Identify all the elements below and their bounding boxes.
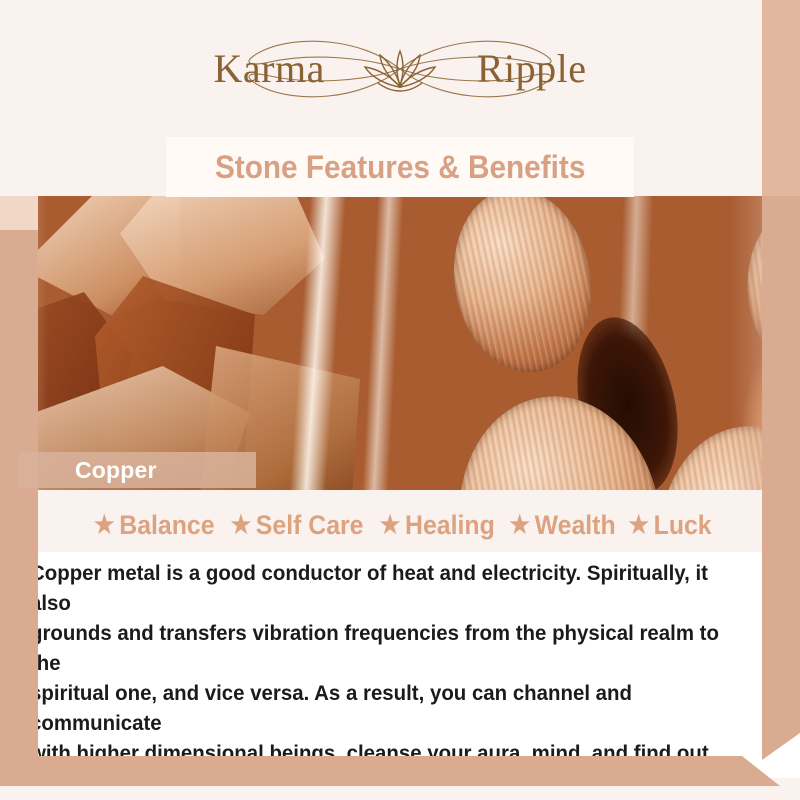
benefit-item-wealth: ★ Wealth [505,510,616,541]
frame-band-bottom [0,756,800,786]
brand-logo-wrap: Karma Ripple [200,29,600,109]
benefit-item-luck: ★ Luck [624,510,712,541]
frame-bottom-fill [0,786,800,800]
benefit-item-self-care: ★ Self Care [226,510,364,541]
stone-photo [0,196,800,490]
star-icon: ★ [231,510,252,540]
brand-logo: Karma Ripple [0,0,800,137]
benefits-list: ★ Balance ★ Self Care ★ Healing ★ Wealth… [0,502,800,548]
photo-rod-highlight [362,196,403,490]
star-icon: ★ [94,510,115,540]
brand-name-left: Karma [214,49,325,89]
page-title: Stone Features & Benefits [215,149,585,186]
benefit-item-healing: ★ Healing [375,510,495,541]
headline-banner: Stone Features & Benefits [166,137,634,197]
description-panel: Copper metal is a good conductor of heat… [0,552,800,778]
benefit-label: Healing [405,510,495,541]
frame-band-left-notch [0,196,38,230]
benefit-item-balance: ★ Balance [90,510,215,541]
brand-name-right: Ripple [477,49,587,89]
product-info-card: Karma Ripple Stone Features & Benefits [0,0,800,800]
benefit-label: Balance [120,510,215,541]
stone-name-bar: Copper [18,452,256,488]
benefit-label: Luck [654,510,712,541]
star-icon: ★ [629,510,650,540]
brand-wordmark: Karma Ripple [200,49,600,89]
star-icon: ★ [380,510,401,540]
stone-name-label: Copper [75,457,157,484]
stone-photo-texture [0,196,800,490]
benefit-label: Wealth [534,510,615,541]
benefit-label: Self Care [256,510,364,541]
star-icon: ★ [509,510,530,540]
